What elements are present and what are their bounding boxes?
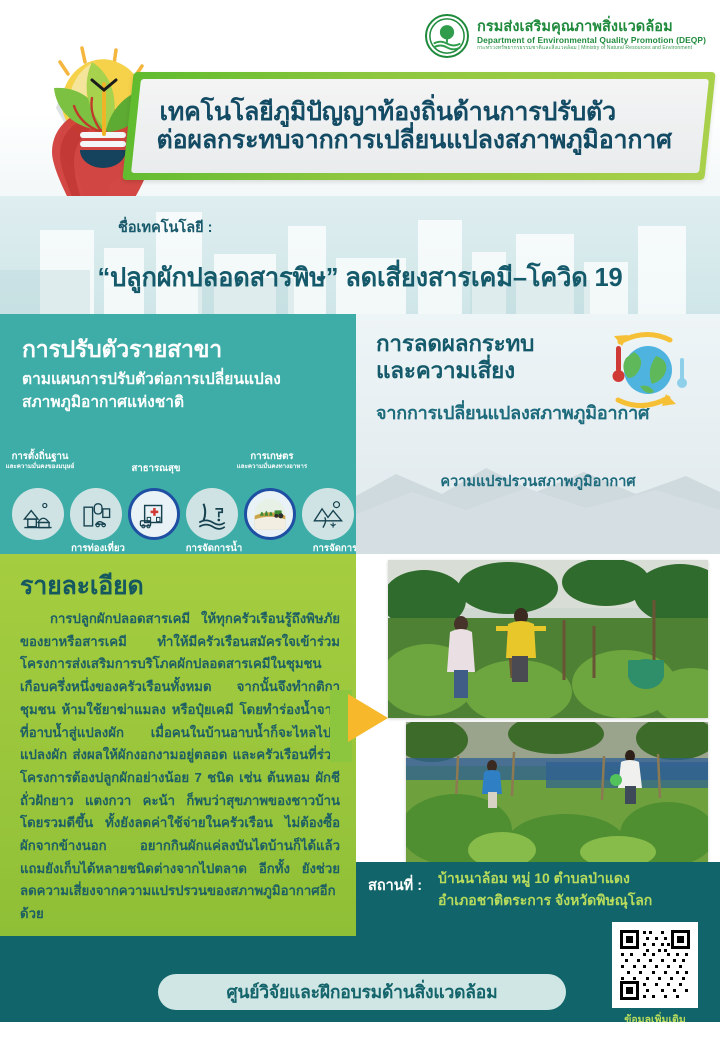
location-label: สถานที่ :: [368, 874, 422, 897]
details-heading: รายละเอียด: [20, 566, 144, 606]
tree-water-seal-icon: [425, 14, 469, 58]
department-name-en: Department of Environmental Quality Prom…: [477, 36, 706, 45]
title-ribbon: เทคโนโลยีภูมิปัญญาท้องถิ่นด้านการปรับตัว…: [122, 72, 715, 180]
sector-item-natural-resources[interactable]: การจัดการ ทรัพยากรธรรมชาติ: [302, 488, 358, 540]
cold-thermometer: [677, 358, 687, 388]
mitigation-heading-line1: การลดผลกระทบ: [376, 330, 534, 357]
mitigation-heading-line2: และความเสี่ยง: [376, 357, 534, 384]
adaptation-subheading-line2: สภาพภูมิอากาศแห่งชาติ: [22, 391, 342, 414]
sector-sublabel-settlement: และความมั่นคงของมนุษย์: [0, 464, 105, 471]
sector-item-water-management[interactable]: การจัดการน้ำ: [186, 488, 242, 540]
sector-label-settlement: การตั้งถิ่นฐาน: [12, 451, 69, 462]
department-name-th: กรมส่งเสริมคุณภาพสิ่งแวดล้อม: [477, 20, 706, 35]
mitigation-panel: การลดผลกระทบ และความเสี่ยง จากการเปลี่ยน…: [356, 314, 720, 554]
photo-vegetable-plots-with-net-fence: [406, 722, 708, 862]
play-arrow-icon: [348, 694, 388, 742]
location-line1: บ้านนาล้อม หมู่ 10 ตำบลป่าแดง: [438, 868, 698, 890]
climate-variability-caption: ความแปรปรวนสภาพภูมิอากาศ: [356, 470, 720, 493]
ministry-name: กระทรวงทรัพยากรธรรมชาติและสิ่งแวดล้อม | …: [477, 46, 706, 51]
footer-text: ศูนย์วิจัยและฝึกอบรมด้านสิ่งแวดล้อม: [227, 978, 498, 1006]
sector-sublabel-agriculture: และความมั่นคงทางอาหาร: [207, 464, 337, 471]
public-health-hospital-icon: [128, 488, 180, 540]
sector-item-tourism[interactable]: การท่องเที่ยว: [70, 488, 126, 540]
photo-villagers-in-vegetable-garden: [388, 560, 708, 718]
sector-icon-row: การตั้งถิ่นฐาน และความมั่นคงของมนุษย์: [6, 452, 356, 552]
sector-label-water-management: การจัดการน้ำ: [186, 543, 243, 554]
adaptation-heading: การปรับตัวรายสาขา: [22, 332, 222, 368]
details-body: การปลูกผักปลอดสารเคมี ให้ทุกครัวเรือนรู้…: [20, 608, 340, 926]
poster-title-line2: ต่อผลกระทบจากการเปลี่ยนแปลงสภาพภูมิอากาศ: [157, 126, 703, 154]
qr-code-icon[interactable]: [612, 922, 698, 1008]
sector-item-settlement[interactable]: การตั้งถิ่นฐาน และความมั่นคงของมนุษย์: [12, 488, 68, 540]
water-management-tap-icon: [186, 488, 238, 540]
details-panel: รายละเอียด การปลูกผักปลอดสารเคมี ให้ทุกค…: [0, 554, 356, 936]
natural-resource-mountain-icon: [302, 488, 354, 540]
agriculture-farm-icon: [244, 488, 296, 540]
footer-center-pill[interactable]: ศูนย์วิจัยและฝึกอบรมด้านสิ่งแวดล้อม: [158, 974, 566, 1010]
sector-item-agriculture[interactable]: การเกษตร และความมั่นคงทางอาหาร: [244, 488, 300, 540]
settlement-houses-icon: [12, 488, 64, 540]
mountain-background-icon: [356, 444, 720, 554]
location-line2: อำเภอชาติตระการ จังหวัดพิษณุโลก: [438, 890, 698, 912]
footer-white-strip: [0, 1022, 720, 1040]
department-logo: กรมส่งเสริมคุณภาพสิ่งแวดล้อม Department …: [425, 14, 706, 58]
tourism-city-car-icon: [70, 488, 122, 540]
poster-title-line1: เทคโนโลยีภูมิปัญญาท้องถิ่นด้านการปรับตัว: [159, 98, 705, 126]
sector-label-agriculture: การเกษตร: [250, 451, 293, 462]
sector-item-public-health[interactable]: สาธารณสุข: [128, 488, 184, 540]
technology-label: ชื่อเทคโนโลยี :: [118, 216, 213, 239]
header-band: เทคโนโลยีภูมิปัญญาท้องถิ่นด้านการปรับตัว…: [0, 0, 720, 200]
globe-thermometer-icon: [590, 328, 698, 414]
sector-label-tourism: การท่องเที่ยว: [71, 543, 125, 554]
poster-root: เทคโนโลยีภูมิปัญญาท้องถิ่นด้านการปรับตัว…: [0, 0, 720, 1040]
adaptation-subheading-line1: ตามแผนการปรับตัวต่อการเปลี่ยนแปลง: [22, 368, 342, 391]
hot-thermometer: [613, 346, 625, 382]
sector-label-public-health: สาธารณสุข: [132, 463, 181, 474]
technology-name: “ปลูกผักปลอดสารพิษ” ลดเสี่ยงสารเคมี–โควิ…: [0, 258, 720, 298]
sector-label-natural-resources: การจัดการ: [313, 543, 358, 554]
